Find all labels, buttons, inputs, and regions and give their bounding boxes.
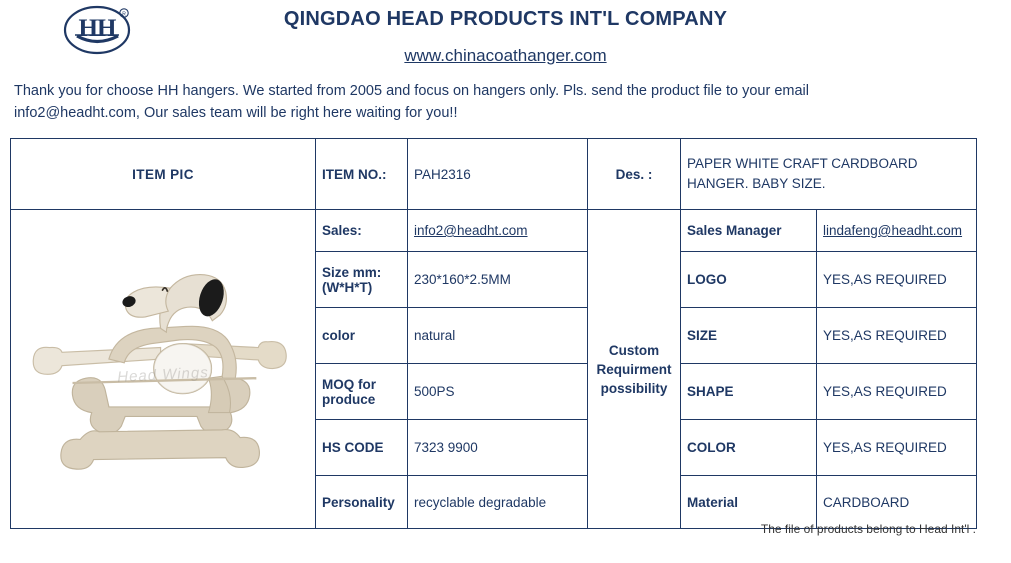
footer-note: The file of products belong to Head Int'… xyxy=(0,522,976,536)
intro-paragraph: Thank you for choose HH hangers. We star… xyxy=(14,80,944,124)
row-value[interactable]: info2@headht.com xyxy=(408,210,588,252)
intro-line-2: info2@headht.com, Our sales team will be… xyxy=(14,102,944,124)
row-label: COLOR xyxy=(681,420,817,476)
product-spec-table: ITEM PIC ITEM NO.: PAH2316 Des. : PAPER … xyxy=(10,138,977,529)
row-value: YES,AS REQUIRED xyxy=(817,364,977,420)
custom-requirement-cell: Custom Requirment possibility xyxy=(588,210,681,529)
row-label: SIZE xyxy=(681,308,817,364)
item-pic-header: ITEM PIC xyxy=(11,139,316,210)
row-label: Personality xyxy=(316,476,408,529)
company-title: QINGDAO HEAD PRODUCTS INT'L COMPANY xyxy=(0,8,1011,31)
product-image-cell: Head Wings xyxy=(11,210,316,529)
table-row: Head Wings Sales: info2@headht.com Custo… xyxy=(11,210,977,252)
row-value[interactable]: lindafeng@headht.com xyxy=(817,210,977,252)
table-header-row: ITEM PIC ITEM NO.: PAH2316 Des. : PAPER … xyxy=(11,139,977,210)
row-value: 230*160*2.5MM xyxy=(408,252,588,308)
dog-hanger-product-image xyxy=(17,225,309,512)
row-value: recyclable degradable xyxy=(408,476,588,529)
row-value: natural xyxy=(408,308,588,364)
row-value: CARDBOARD xyxy=(817,476,977,529)
item-no-value: PAH2316 xyxy=(408,139,588,210)
row-value: YES,AS REQUIRED xyxy=(817,252,977,308)
row-label: HS CODE xyxy=(316,420,408,476)
row-label: color xyxy=(316,308,408,364)
row-value: 7323 9900 xyxy=(408,420,588,476)
row-value: YES,AS REQUIRED xyxy=(817,420,977,476)
row-label: Sales Manager xyxy=(681,210,817,252)
intro-line-1: Thank you for choose HH hangers. We star… xyxy=(14,80,944,102)
des-value: PAPER WHITE CRAFT CARDBOARD HANGER. BABY… xyxy=(681,139,977,210)
hanger-bottom-bar xyxy=(61,430,260,470)
row-value: 500PS xyxy=(408,364,588,420)
item-no-label: ITEM NO.: xyxy=(316,139,408,210)
row-label: LOGO xyxy=(681,252,817,308)
page-header: HH R QINGDAO HEAD PRODUCTS INT'L COMPANY… xyxy=(0,0,1011,68)
row-label: SHAPE xyxy=(681,364,817,420)
row-label: Sales: xyxy=(316,210,408,252)
row-label: Size mm:(W*H*T) xyxy=(316,252,408,308)
row-value: YES,AS REQUIRED xyxy=(817,308,977,364)
size-label-line1: Size mm:(W*H*T) xyxy=(322,265,381,295)
company-website-link[interactable]: www.chinacoathanger.com xyxy=(0,46,1011,66)
row-label: Material xyxy=(681,476,817,529)
row-label: MOQ forproduce xyxy=(316,364,408,420)
des-label: Des. : xyxy=(588,139,681,210)
